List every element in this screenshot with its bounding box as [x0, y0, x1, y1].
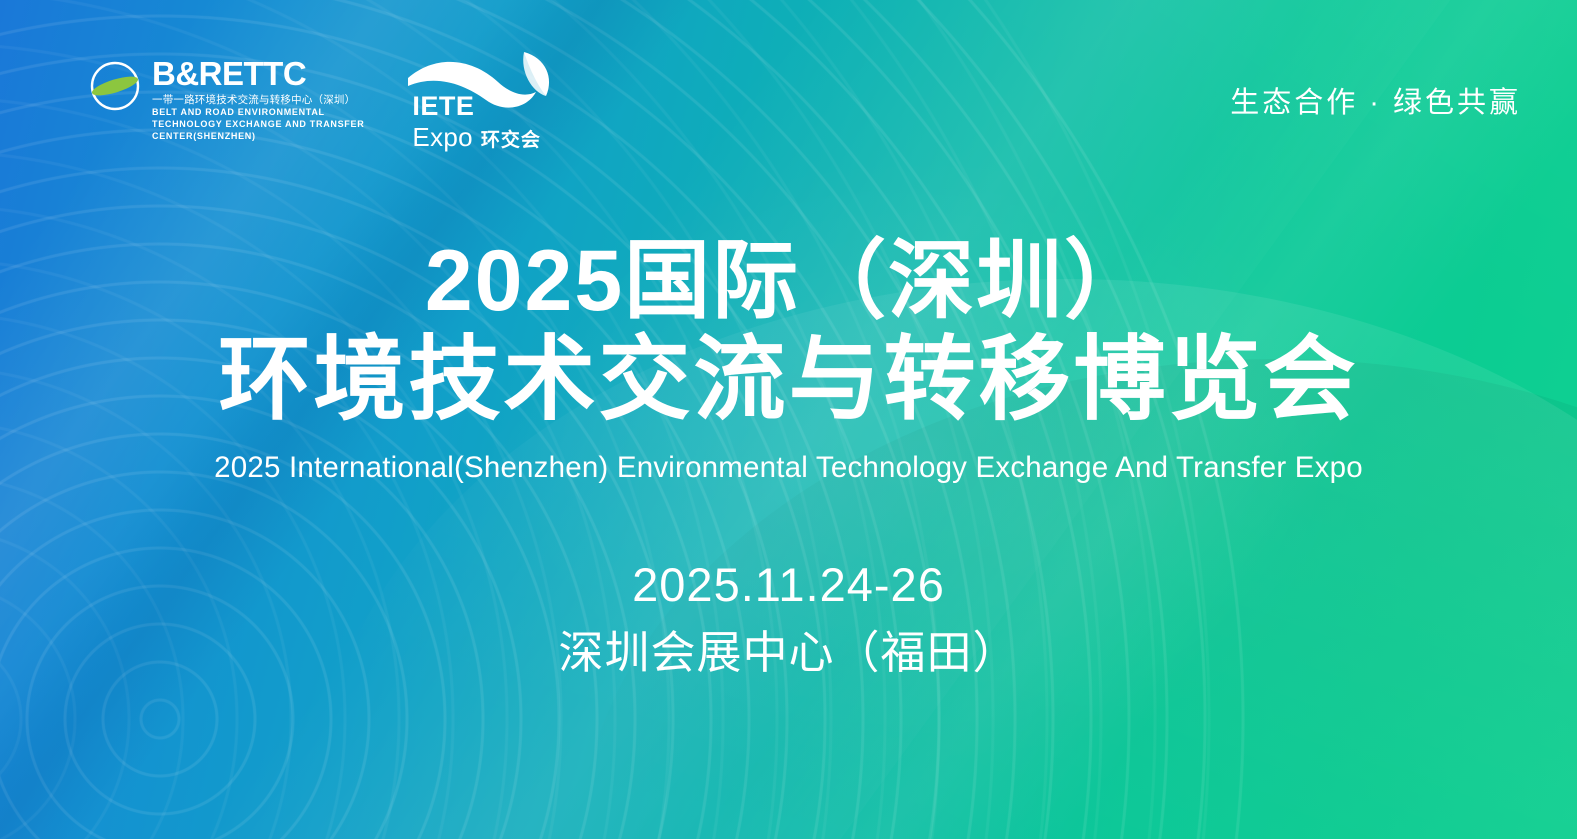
event-banner: B&RETTC 一带一路环境技术交流与转移中心（深圳） BELT AND ROA… [0, 0, 1577, 839]
logo-iete[interactable]: IETE Expo 环交会 [406, 48, 561, 152]
iete-cn-label: 环交会 [481, 131, 541, 150]
page-title-line1: 2025国际（深圳） [0, 236, 1577, 327]
iete-second-line: Expo 环交会 [412, 124, 540, 150]
brettc-wordmark: B&RETTC [152, 57, 364, 90]
iete-text-block: IETE Expo 环交会 [412, 93, 540, 150]
globe-icon [88, 59, 142, 118]
iete-acronym: IETE [412, 93, 540, 120]
iete-expo-label: Expo [412, 124, 472, 150]
brettc-subtitle-en-line2: TECHNOLOGY EXCHANGE AND TRANSFER [152, 119, 364, 131]
event-venue: 深圳会展中心（福田） [558, 616, 1018, 681]
logo-brettc[interactable]: B&RETTC 一带一路环境技术交流与转移中心（深圳） BELT AND ROA… [88, 57, 364, 143]
banner-main: 2025国际（深圳） 环境技术交流与转移博览会 2025 Internation… [0, 236, 1577, 681]
page-title-line2: 环境技术交流与转移博览会 [0, 331, 1577, 430]
page-title-english: 2025 International(Shenzhen) Environment… [0, 451, 1577, 485]
banner-slogan: 生态合作 · 绿色共赢 [1230, 79, 1521, 121]
brettc-subtitle-cn: 一带一路环境技术交流与转移中心（深圳） [152, 93, 364, 107]
logo-group: B&RETTC 一带一路环境技术交流与转移中心（深圳） BELT AND ROA… [88, 48, 561, 152]
brettc-text-block: B&RETTC 一带一路环境技术交流与转移中心（深圳） BELT AND ROA… [152, 57, 364, 143]
brettc-subtitle-en-line1: BELT AND ROAD ENVIRONMENTAL [152, 107, 364, 119]
event-date: 2025.11.24-26 [632, 557, 945, 612]
banner-header: B&RETTC 一带一路环境技术交流与转移中心（深圳） BELT AND ROA… [0, 0, 1577, 200]
event-info: 2025.11.24-26 深圳会展中心（福田） [0, 557, 1577, 681]
brettc-subtitle-en-line3: CENTER(SHENZHEN) [152, 131, 364, 143]
